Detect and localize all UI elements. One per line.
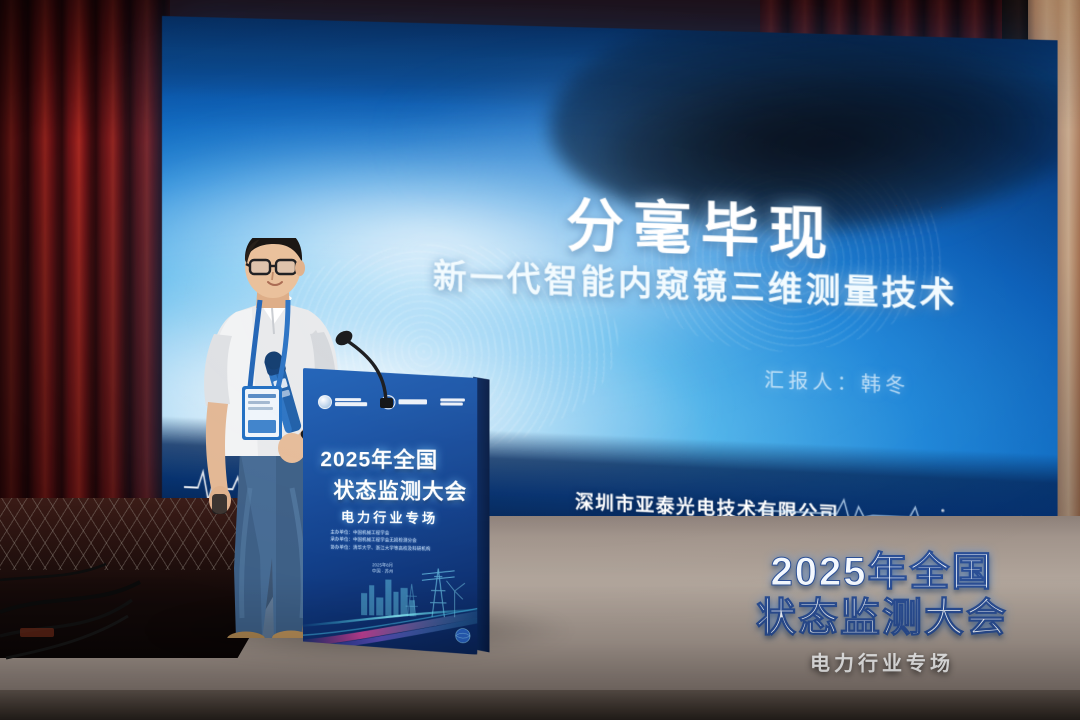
podium-logo-partner-third <box>440 399 465 406</box>
watermark-line-1: 2025年全国 <box>694 552 1070 592</box>
slide-presenter-label: 汇报人：韩冬 <box>764 365 909 399</box>
conference-stage-photo: 分毫毕现 新一代智能内窥镜三维测量技术 汇报人：韩冬 深圳市亚泰光电技术有限公司… <box>0 0 1080 720</box>
podium-title-line-1: 2025年全国 <box>303 443 467 475</box>
organizer-line: 承办单位：中国机械工程学会无损检测分会 <box>330 538 452 545</box>
podium-artwork-skyline <box>303 548 477 654</box>
podium-track-label: 电力行业专场 <box>303 506 477 528</box>
partner-third-wordmark <box>440 399 465 406</box>
watermark-line-3: 电力行业专场 <box>694 647 1070 676</box>
watermark-line-2: 状态监测大会 <box>694 598 1070 638</box>
lectern-podium: S 2025年全国 状态监测大会 电力行业专场 主办单位：中国机械工程学会 承办… <box>303 368 477 655</box>
stage-curtain-left <box>0 0 170 560</box>
attendee-badge <box>242 386 282 440</box>
power-pylon-icon <box>422 569 455 618</box>
podium-front-panel: S 2025年全国 状态监测大会 电力行业专场 主办单位：中国机械工程学会 承办… <box>303 368 477 655</box>
microphone-base <box>380 398 393 408</box>
podium-title-line-2: 状态监测大会 <box>313 474 477 506</box>
speaker-arm-left <box>206 402 228 492</box>
speaker-hand-right <box>278 433 306 463</box>
clicker-remote <box>212 494 227 514</box>
curtain-shading-left <box>0 0 170 560</box>
stage-front-edge <box>0 690 1080 720</box>
gooseneck-microphone <box>300 300 410 410</box>
skyline-buildings <box>361 580 415 617</box>
event-watermark-overlay: 2025年全国 状态监测大会 电力行业专场 <box>694 552 1070 680</box>
